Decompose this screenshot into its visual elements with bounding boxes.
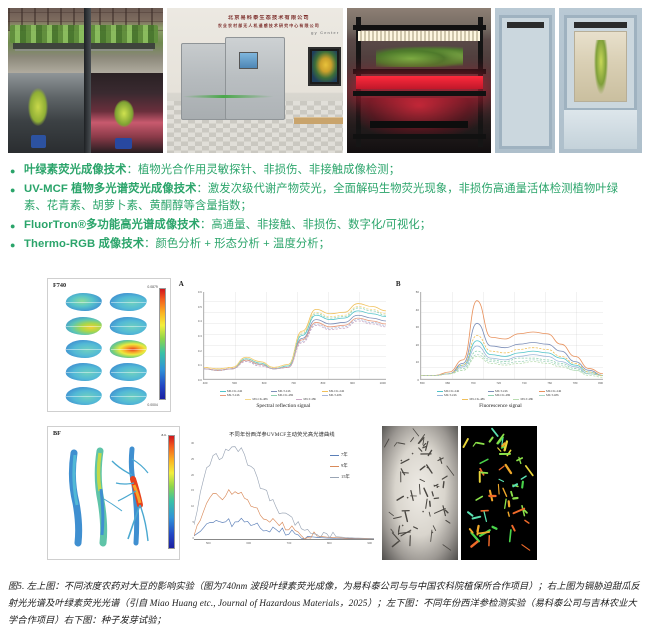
- panel-label-f740: F740: [53, 282, 66, 289]
- bullet-item-chlorophyll-fluorescence: ● 叶绿素荧光成像技术：植物光合作用灵敏探针、非损伤、非接触成像检测；: [10, 162, 640, 179]
- rack-shelf-2: [353, 69, 486, 74]
- seed-sprout: [446, 520, 450, 523]
- legend-swatch: [296, 399, 302, 400]
- seed-sprout: [420, 479, 425, 481]
- chamber-base-unit: [564, 108, 637, 149]
- leaf-image: [107, 385, 151, 407]
- workstation-desk: [294, 117, 343, 124]
- seed-sprout: [419, 448, 422, 451]
- legend-item: 9年: [330, 463, 362, 469]
- series-M0-T-24h: [421, 323, 603, 375]
- seed-sprout: [405, 512, 407, 522]
- seed-sprout: [478, 526, 479, 531]
- panel-label-a: A: [179, 280, 184, 288]
- series-M9-CK-24h: [421, 301, 603, 376]
- legend-swatch: [271, 391, 277, 392]
- seed-sprout: [445, 510, 448, 513]
- seed-sprout: [430, 501, 431, 506]
- seed-sprout: [499, 479, 504, 481]
- seed-sprout: [522, 545, 530, 551]
- seed-sprout: [413, 429, 419, 436]
- seed-sprout: [522, 482, 523, 488]
- company-wall-sign: 北京易科泰生态技术有限公司 农业农村部无人机遥感技术研究中心有限公司 gy Ce…: [198, 15, 339, 38]
- legend-swatch: [220, 395, 226, 396]
- legend-label: M9-CK-48h: [252, 397, 267, 401]
- colorbar-bf: [168, 435, 175, 549]
- bullet-text: Thermo-RGB 成像技术：颜色分析 + 形态分析 + 温度分析；: [24, 236, 640, 253]
- legend-swatch: [330, 466, 339, 467]
- panel-label-bf: BF: [53, 430, 61, 437]
- seed-sprout: [389, 512, 394, 516]
- root-shapes-svg: [60, 439, 160, 551]
- wall-sign-line2: 农业农村部无人机遥感技术研究中心有限公司: [198, 22, 339, 29]
- legend-label: M9-T-24h: [444, 393, 457, 397]
- axis-tick: 800: [598, 381, 603, 388]
- red-light-glow: [360, 98, 479, 136]
- seed-sprout: [419, 484, 420, 494]
- seed-sprout: [438, 458, 443, 461]
- seed-sprout: [512, 526, 515, 531]
- seed-sprout: [401, 459, 409, 463]
- panel-a-legend: M0-CK-24hM0-T-24hM9-CK-24hM9-T-24hM0-CK-…: [203, 389, 386, 401]
- bullet-body: ：颜色分析 + 形态分析 + 温度分析；: [144, 238, 330, 250]
- figure-row-lower: BF: [47, 426, 612, 564]
- photo-growth-chamber-side: [495, 8, 555, 153]
- bullet-item-uv-mcf: ● UV-MCF 植物多光谱荧光成像技术：激发次级代谢产物荧光，全面解码生物荧光…: [10, 181, 640, 215]
- panel-b-y-axis: 50403020100: [398, 290, 419, 382]
- legend-label: M9-T-48h: [303, 397, 316, 401]
- panel-bf-root-image: BF: [47, 426, 180, 560]
- panel-b-fluorescence: B 50403020100 650680700720740760780800 M…: [394, 278, 607, 412]
- panel-b-series-svg: [421, 292, 603, 379]
- panel-a-x-axis: 4005006007008009001000: [203, 381, 386, 388]
- axis-tick: 400: [203, 381, 208, 388]
- seed-sprouts-fluor-svg: [461, 426, 537, 560]
- seed-sprout: [502, 444, 504, 447]
- seed-sprout: [440, 457, 442, 463]
- chamber-side-scene: [495, 8, 555, 153]
- seed-sprout: [401, 530, 411, 536]
- seed-sprout: [392, 542, 398, 547]
- leaf-image: [62, 291, 106, 313]
- axis-tick: 900: [367, 541, 372, 545]
- seed-sprout: [498, 448, 501, 451]
- legend-swatch: [462, 399, 468, 400]
- chamber-red-light-image: [86, 73, 162, 153]
- leaf-image-grid: [62, 291, 150, 407]
- legend-item: 15年: [330, 474, 362, 480]
- figure-row-upper: F740 0.0879 0.0004 A 0.60.50.40.30.20.10…: [47, 278, 607, 418]
- axis-tick: 30: [416, 325, 419, 329]
- legend-swatch: [220, 391, 226, 392]
- seed-sprout: [411, 438, 414, 442]
- legend-item: 7年: [330, 452, 362, 458]
- seed-sprout: [511, 492, 512, 496]
- seed-sprout: [394, 517, 402, 519]
- legend-swatch: [271, 395, 277, 396]
- leaf-image: [62, 385, 106, 407]
- axis-tick: 10: [416, 360, 419, 364]
- legend-swatch: [539, 395, 545, 396]
- seed-sprout: [401, 469, 404, 475]
- seed-sprout: [426, 499, 427, 508]
- seed-sprout: [443, 506, 445, 516]
- seed-sprout: [426, 442, 428, 451]
- axis-tick: 740: [522, 381, 527, 388]
- seed-sprout: [399, 532, 411, 534]
- seed-sprout: [435, 509, 446, 514]
- panel-b-legend: M0-CK-24hM0-T-24hM9-CK-24hM9-T-24hM0-CK-…: [420, 389, 603, 401]
- legend-label: M9-CK-48h: [469, 397, 484, 401]
- seed-sprout: [447, 466, 454, 476]
- rack-shelf-3: [353, 91, 486, 96]
- axis-tick: 0.3: [198, 334, 202, 338]
- photo-growth-chamber-front: [559, 8, 642, 153]
- wall-sign-line3: gy Center: [198, 29, 339, 36]
- chamber-divider: [84, 8, 91, 153]
- colorbar-max-label: 0.0879: [147, 285, 157, 289]
- seed-sprout: [443, 482, 444, 488]
- axis-tick: 720: [496, 381, 501, 388]
- spectra-legend: 7年9年15年: [330, 452, 362, 485]
- bullet-item-fluortron: ● FluorTron®多功能高光谱成像技术：高通量、非接触、非损伤、数字化/可…: [10, 217, 640, 234]
- leaf-image: [107, 338, 151, 360]
- seed-sprout: [429, 512, 430, 516]
- panel-ginseng-spectra: 不同年份西洋参UVMCF主动荧光高光谱曲线 302520151050 50060…: [186, 426, 378, 560]
- series-M9-CK-48h: [204, 307, 386, 369]
- seed-sprout: [434, 498, 438, 499]
- legend-swatch: [437, 395, 443, 396]
- axis-tick: 700: [291, 381, 296, 388]
- seed-sprout: [525, 520, 529, 523]
- rack-shelf-4: [353, 134, 486, 139]
- legend-swatch: [245, 399, 251, 400]
- seed-sprout: [484, 512, 486, 522]
- chamber-interior: [574, 31, 627, 102]
- series-M0-T-24h: [204, 315, 386, 370]
- seed-sprout: [505, 499, 506, 508]
- figure-5: F740 0.0879 0.0004 A 0.60.50.40.30.20.10…: [0, 274, 650, 574]
- seed-sprout: [471, 542, 477, 547]
- photo-lab-instrument: 北京易科泰生态技术有限公司 农业农村部无人机遥感技术研究中心有限公司 gy Ce…: [167, 8, 343, 153]
- series-M0-T-48h: [204, 320, 386, 371]
- legend-swatch: [330, 477, 339, 478]
- leaf-image: [62, 361, 106, 383]
- axis-tick: 0.4: [198, 319, 202, 323]
- seed-sprout: [391, 529, 394, 532]
- seed-sprout: [434, 485, 439, 486]
- seed-sprout: [470, 529, 473, 532]
- axis-tick: 900: [350, 381, 355, 388]
- white-lamp-bar: [358, 31, 479, 41]
- seed-sprout: [508, 512, 509, 516]
- bullet-title: UV-MCF 植物多光谱荧光成像技术: [24, 183, 197, 195]
- axis-tick: 500: [232, 381, 237, 388]
- legend-label: 9年: [341, 463, 348, 469]
- legend-swatch: [322, 395, 328, 396]
- chamber-white-light-image: [8, 73, 84, 153]
- photo-red-led-grow-rack: [347, 8, 492, 153]
- legend-swatch: [539, 391, 545, 392]
- bullet-text: FluorTron®多功能高光谱成像技术：高通量、非接触、非损伤、数字化/可视化…: [24, 217, 640, 234]
- seed-sprout: [432, 492, 433, 496]
- legend-swatch: [330, 455, 339, 456]
- seed-sprout: [524, 510, 527, 513]
- legend-label: 15年: [341, 474, 350, 480]
- bullet-dot-icon: ●: [10, 217, 24, 231]
- legend-swatch: [488, 391, 494, 392]
- seed-sprout: [427, 465, 432, 473]
- spectra-y-axis: 302520151050: [186, 442, 194, 540]
- instrument-green-stripe: [182, 95, 274, 98]
- chamber-side-lamp: [507, 22, 544, 28]
- panel-a-spectral-reflection: A 0.60.50.40.30.20.10.0 4005006007008009…: [177, 278, 390, 412]
- legend-label: 7年: [341, 452, 348, 458]
- axis-tick: 700: [471, 381, 476, 388]
- seed-sprout: [492, 429, 498, 436]
- bullet-text: UV-MCF 植物多光谱荧光成像技术：激发次级代谢产物荧光，全面解码生物荧光现象…: [24, 181, 640, 215]
- seed-sprouts-gray-svg: [382, 426, 458, 560]
- seed-sprout: [399, 526, 400, 531]
- panel-a-series-svg: [204, 292, 386, 379]
- seed-sprout: [490, 438, 493, 442]
- series-7年: [194, 518, 374, 539]
- bullet-dot-icon: ●: [10, 181, 24, 195]
- seed-sprout: [423, 439, 424, 445]
- seed-sprout: [431, 530, 432, 542]
- series-M9-T-48h: [204, 321, 386, 370]
- bullet-item-thermo-rgb: ● Thermo-RGB 成像技术：颜色分析 + 形态分析 + 温度分析；: [10, 236, 640, 253]
- legend-swatch: [437, 391, 443, 392]
- legend-item: M9-CK-48h: [245, 397, 292, 401]
- seed-sprout: [503, 488, 507, 496]
- top-photo-row: 北京易科泰生态技术有限公司 农业农村部无人机遥感技术研究中心有限公司 gy Ce…: [8, 8, 642, 153]
- legend-item: M9-T-48h: [513, 397, 560, 401]
- axis-tick: 0.2: [198, 349, 202, 353]
- seed-sprout: [420, 466, 425, 470]
- instrument-cabinet-right: [225, 37, 285, 120]
- seed-sprout: [397, 496, 403, 500]
- seed-sprout: [411, 491, 413, 501]
- figure-caption: 图5. 左上图：不同浓度农药对大豆的影响实验（图为740nm 波段叶绿素荧光成像…: [8, 578, 642, 629]
- panel-a-plot-area: [203, 292, 386, 380]
- axis-tick: 1000: [380, 381, 386, 388]
- chamber-front-lamp: [574, 22, 627, 28]
- seed-sprout: [473, 443, 476, 447]
- seed-sprout: [498, 484, 499, 494]
- bullet-body: ：高通量、非接触、非损伤、数字化/可视化；: [200, 219, 431, 231]
- bullet-body: ：植物光合作用灵敏探针、非损伤、非接触成像检测；: [127, 164, 401, 176]
- seed-sprout: [398, 526, 399, 534]
- lab-scene: 北京易科泰生态技术有限公司 农业农村部无人机遥感技术研究中心有限公司 gy Ce…: [167, 8, 343, 153]
- seed-sprout: [423, 446, 427, 448]
- rack-shelf-1: [353, 25, 486, 30]
- axis-tick: 700: [287, 541, 292, 545]
- axis-tick: 50: [416, 290, 419, 294]
- seed-sprout: [478, 532, 490, 534]
- seed-sprout: [433, 526, 436, 531]
- axis-tick: 800: [327, 541, 332, 545]
- spectra-x-axis: 500600700800900: [206, 541, 372, 545]
- rack-plants-upper: [376, 46, 463, 68]
- axis-tick: 40: [416, 308, 419, 312]
- axis-tick: 600: [246, 541, 251, 545]
- axis-tick: 500: [206, 541, 211, 545]
- seed-sprout: [477, 443, 484, 444]
- seed-tray-grayscale: [382, 426, 458, 560]
- workstation-monitor: [308, 47, 342, 86]
- seed-sprout: [434, 484, 438, 486]
- axis-tick: 0.6: [198, 290, 202, 294]
- seed-sprout: [443, 545, 451, 551]
- legend-label: M9-T-24h: [227, 393, 240, 397]
- axis-tick: 0.5: [198, 305, 202, 309]
- panel-seed-rgb-image: [382, 426, 458, 560]
- spectra-chart-title: 不同年份西洋参UVMCF主动荧光高光谱曲线: [186, 431, 378, 438]
- series-M9-T-24h: [421, 346, 603, 376]
- seed-sprout: [468, 512, 473, 516]
- seed-sprout: [418, 435, 424, 444]
- seed-sprout: [414, 527, 418, 529]
- seed-sprout: [419, 438, 424, 444]
- seed-sprout: [428, 450, 431, 455]
- series-M9-CK-24h: [204, 304, 386, 369]
- seed-sprout: [493, 527, 497, 529]
- legend-swatch: [322, 391, 328, 392]
- leaf-image: [107, 361, 151, 383]
- seed-sprout: [506, 465, 511, 473]
- seed-sprout: [499, 466, 504, 470]
- seed-sprout: [394, 443, 397, 447]
- seed-sprout: [473, 517, 481, 519]
- legend-swatch: [488, 395, 494, 396]
- panel-a-y-axis: 0.60.50.40.30.20.10.0: [181, 290, 202, 382]
- legend-item: M9-CK-48h: [462, 397, 509, 401]
- bullet-title: FluorTron®多功能高光谱成像技术: [24, 219, 200, 231]
- axis-tick: 20: [416, 343, 419, 347]
- seedling-tray: [370, 121, 468, 128]
- bullet-dot-icon: ●: [10, 236, 24, 250]
- axis-tick: 780: [573, 381, 578, 388]
- series-M9-CK-48h: [421, 336, 603, 376]
- seed-sprout: [424, 488, 428, 496]
- panel-f740-fluorescence-image: F740 0.0879 0.0004: [47, 278, 171, 412]
- series-M9-T-24h: [204, 318, 386, 370]
- seed-sprout: [464, 439, 468, 447]
- leaf-image: [62, 338, 106, 360]
- seed-sprout: [385, 439, 389, 447]
- series-M0-CK-48h: [204, 308, 386, 370]
- seed-sprout: [480, 459, 488, 463]
- seed-sprout: [398, 443, 405, 444]
- panel-b-plot-area: [420, 292, 603, 380]
- leaf-image: [107, 291, 151, 313]
- red-led-bar: [356, 76, 483, 89]
- axis-tick: 800: [321, 381, 326, 388]
- axis-tick: 680: [445, 381, 450, 388]
- bullet-title: 叶绿素荧光成像技术: [24, 164, 127, 176]
- bullet-text: 叶绿素荧光成像技术：植物光合作用灵敏探针、非损伤、非接触成像检测；: [24, 162, 640, 179]
- seed-sprout: [526, 466, 533, 476]
- seed-sprout: [510, 530, 511, 542]
- technology-bullet-list: ● 叶绿素荧光成像技术：植物光合作用灵敏探针、非损伤、非接触成像检测； ● UV…: [10, 162, 640, 255]
- bullet-dot-icon: ●: [10, 162, 24, 176]
- chamber-front-scene: [559, 8, 642, 153]
- axis-tick: 0.0: [198, 378, 202, 382]
- leaf-image: [107, 314, 151, 336]
- seed-sprout: [442, 476, 447, 479]
- seed-sprout: [521, 476, 526, 479]
- grow-rack-scene: [347, 8, 492, 153]
- panel-seed-fluorescence-image: [461, 426, 537, 560]
- seed-sprout: [392, 533, 400, 541]
- legend-swatch: [513, 399, 519, 400]
- colorbar-min-label: 0.0004: [147, 403, 157, 407]
- legend-label: M9-T-48h: [520, 397, 533, 401]
- bullet-title: Thermo-RGB 成像技术: [24, 238, 144, 250]
- wall-sign-line1: 北京易科泰生态技术有限公司: [198, 15, 339, 22]
- photo-greenhouse-phenotyping: [8, 8, 163, 153]
- panel-b-x-axis: 650680700720740760780800: [420, 381, 603, 388]
- axis-tick: 760: [547, 381, 552, 388]
- legend-item: M9-T-48h: [296, 397, 343, 401]
- axis-tick: 0.1: [198, 363, 202, 367]
- seed-sprout: [476, 496, 482, 500]
- axis-tick: 650: [420, 381, 425, 388]
- chamber-side-body: [499, 15, 552, 148]
- axis-tick: 0: [417, 378, 419, 382]
- ginseng-root-image: [60, 439, 160, 551]
- leaf-image: [62, 314, 106, 336]
- axis-tick: 600: [262, 381, 267, 388]
- panel-b-x-label: Fluorescence signal: [394, 403, 607, 409]
- colorbar-f740: [159, 288, 166, 400]
- seed-sprout: [513, 498, 517, 499]
- seed-sprout: [423, 444, 425, 447]
- panel-label-b: B: [396, 280, 401, 288]
- seed-sprout: [509, 501, 510, 506]
- instrument-touchscreen: [239, 52, 258, 69]
- colorbar-bf-unit: a.u.: [161, 433, 167, 437]
- panel-a-x-label: Spectral reflection signal: [177, 403, 390, 409]
